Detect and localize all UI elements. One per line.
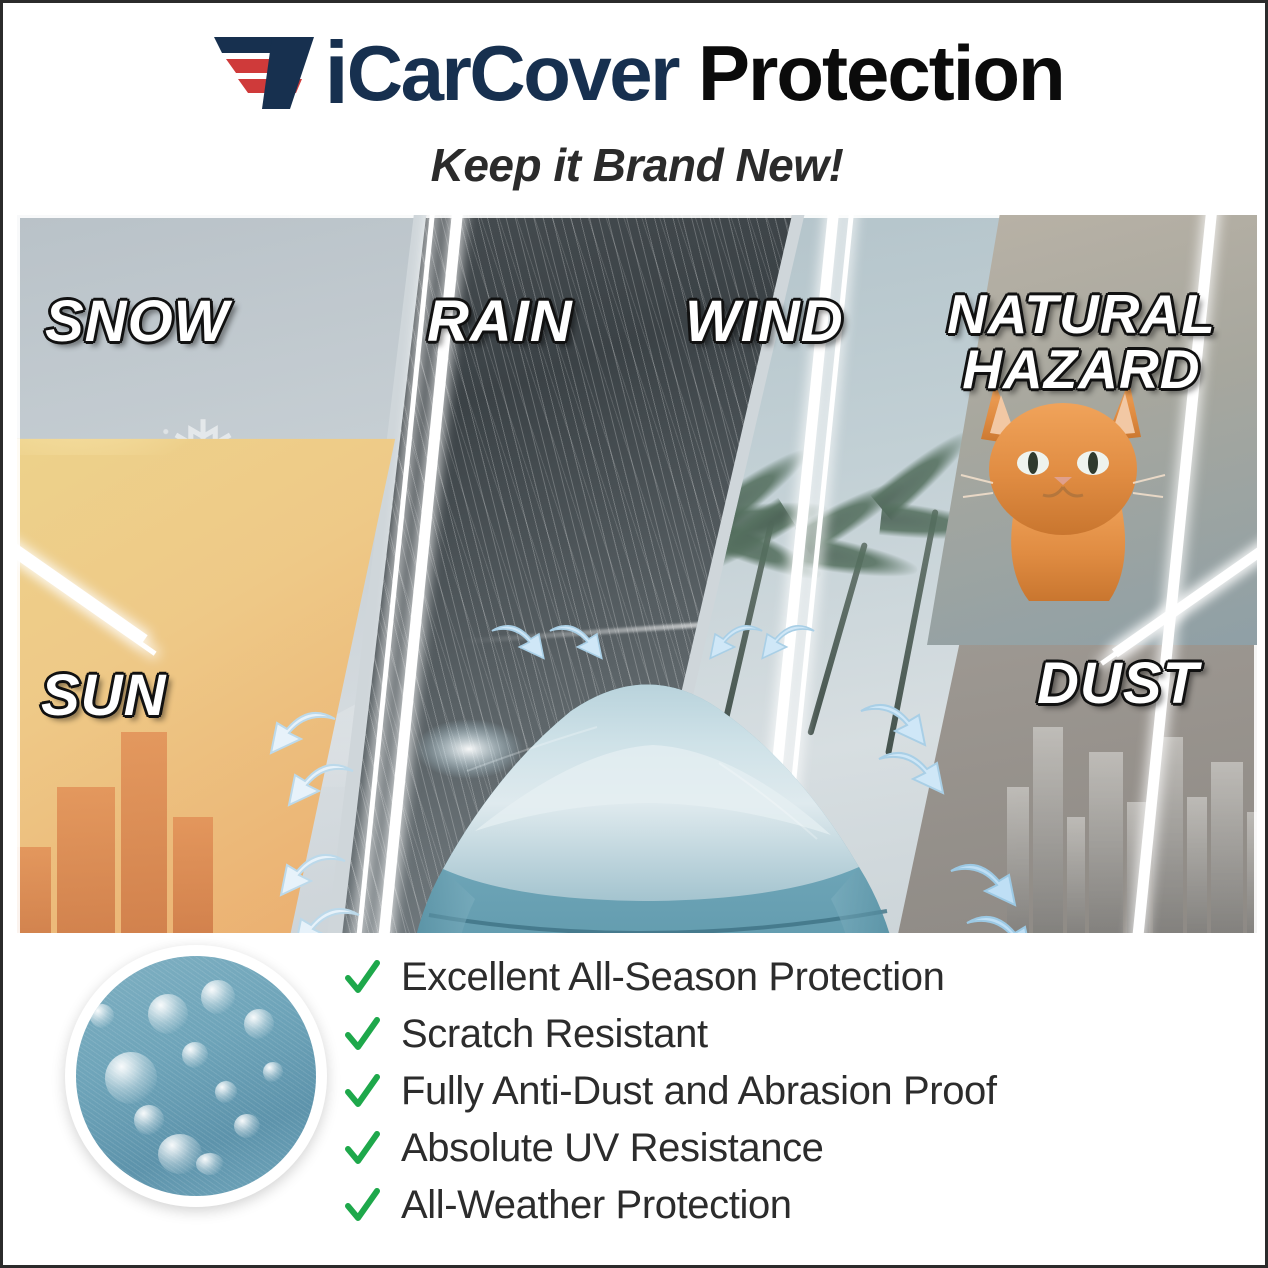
check-icon	[343, 1016, 381, 1054]
feature-item: All-Weather Protection	[343, 1177, 1203, 1234]
check-icon	[343, 1073, 381, 1111]
header: i CarCover Protection Keep it Brand New!	[3, 3, 1268, 208]
cat-on-car-icon	[959, 375, 1169, 605]
deflection-arrow-icon	[487, 619, 547, 675]
deflection-arrow-icon	[545, 619, 605, 675]
panel-label-natural-hazard: NATURAL HAZARD	[947, 287, 1216, 397]
check-icon	[343, 959, 381, 997]
feature-label: Scratch Resistant	[401, 1012, 708, 1057]
feature-item: Fully Anti-Dust and Abrasion Proof	[343, 1063, 1203, 1120]
panel-label-snow: SNOW	[45, 293, 229, 351]
feature-label: All-Weather Protection	[401, 1183, 792, 1228]
brand-letter-i: i	[324, 29, 346, 117]
icarcover-wing-logo-icon	[210, 31, 322, 115]
panel-label-sun: SUN	[41, 667, 166, 725]
deflection-arrow-icon	[267, 709, 341, 769]
check-icon	[343, 1187, 381, 1225]
protection-collage: ❅	[17, 215, 1257, 937]
feature-list: Excellent All-Season Protection Scratch …	[343, 949, 1203, 1234]
brand-title-row: i CarCover Protection	[3, 29, 1268, 117]
feature-item: Excellent All-Season Protection	[343, 949, 1203, 1006]
water-beading-closeup	[65, 945, 327, 1207]
deflection-arrow-icon	[277, 851, 351, 911]
feature-item: Scratch Resistant	[343, 1006, 1203, 1063]
feature-label: Excellent All-Season Protection	[401, 955, 944, 1000]
feature-label: Fully Anti-Dust and Abrasion Proof	[401, 1069, 997, 1114]
deflection-arrow-icon	[873, 749, 947, 809]
panel-label-dust: DUST	[1037, 655, 1199, 713]
deflection-arrow-icon	[759, 619, 819, 675]
deflection-arrow-icon	[945, 861, 1019, 921]
brand-name: CarCover	[347, 34, 678, 112]
brand-suffix: Protection	[698, 34, 1064, 112]
product-infographic: i CarCover Protection Keep it Brand New!…	[0, 0, 1268, 1268]
panel-label-wind: WIND	[685, 293, 844, 351]
beading-photo	[76, 956, 316, 1196]
panel-label-rain: RAIN	[427, 293, 573, 351]
check-icon	[343, 1130, 381, 1168]
deflection-arrow-icon	[707, 619, 767, 675]
features-section: Excellent All-Season Protection Scratch …	[3, 933, 1268, 1268]
feature-label: Absolute UV Resistance	[401, 1126, 824, 1171]
deflection-arrow-icon	[285, 761, 359, 821]
tagline: Keep it Brand New!	[3, 138, 1268, 192]
feature-item: Absolute UV Resistance	[343, 1120, 1203, 1177]
